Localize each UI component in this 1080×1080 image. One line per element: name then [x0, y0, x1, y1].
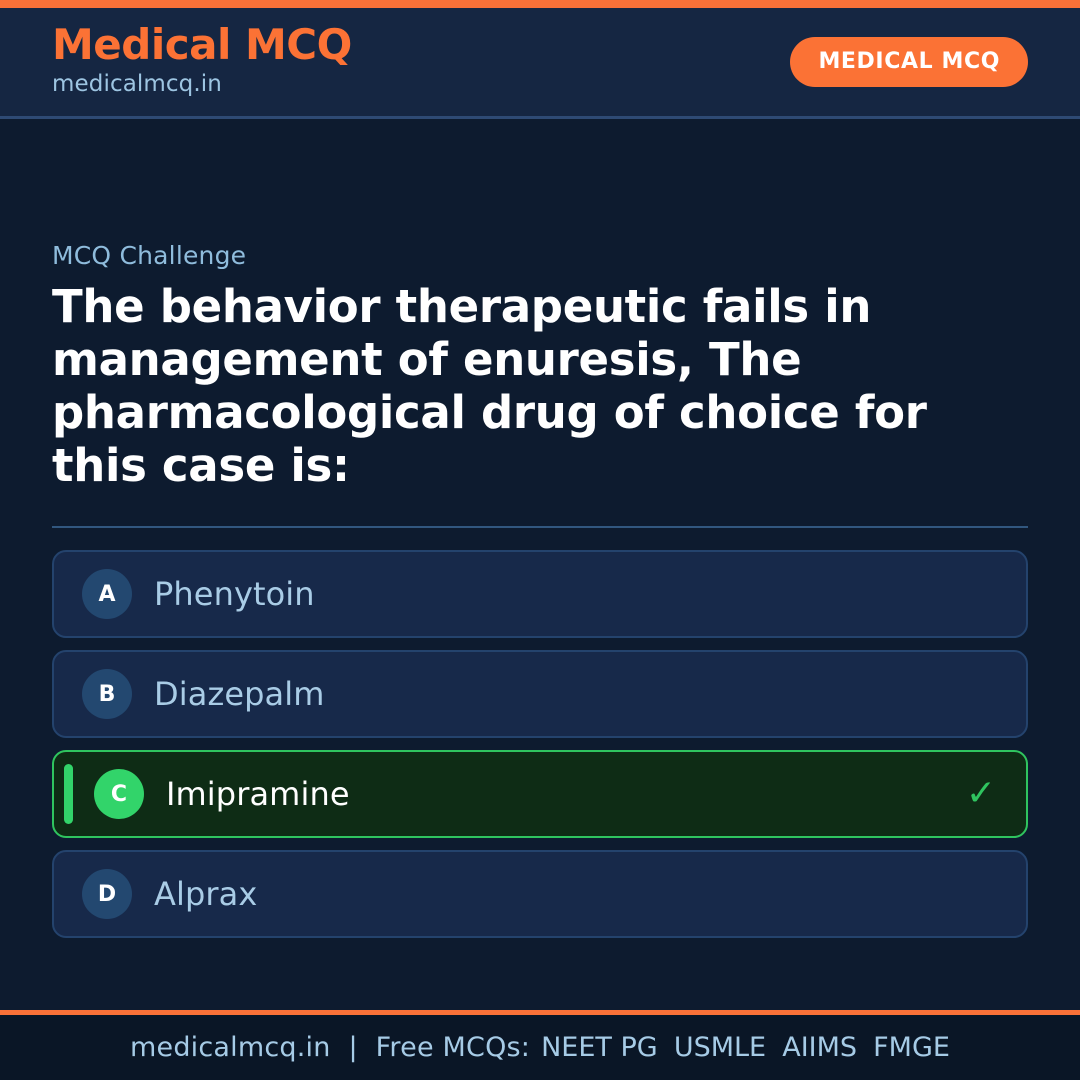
check-icon: ✓	[966, 776, 996, 812]
footer-exam-usmle[interactable]: USMLE	[663, 1032, 766, 1063]
options-list: A Phenytoin B Diazepalm C Imipramine ✓ D…	[52, 550, 1028, 938]
brand-title: Medical MCQ	[52, 23, 352, 67]
footer-exam-fmge[interactable]: FMGE	[862, 1032, 950, 1063]
eyebrow-label: MCQ Challenge	[52, 241, 1028, 270]
option-c-correct[interactable]: C Imipramine ✓	[52, 750, 1028, 838]
brand-block: Medical MCQ medicalmcq.in	[52, 23, 352, 99]
footer-exam-list: NEET PG USMLE AIIMS FMGE	[530, 1032, 950, 1063]
footer-exam-aiims[interactable]: AIIMS	[771, 1032, 857, 1063]
header-bar: Medical MCQ medicalmcq.in MEDICAL MCQ	[0, 8, 1080, 119]
option-c-letter-badge: C	[94, 769, 144, 819]
option-c-label: Imipramine	[166, 775, 350, 813]
option-b-label: Diazepalm	[154, 675, 325, 713]
header-badge: MEDICAL MCQ	[790, 37, 1028, 87]
option-a[interactable]: A Phenytoin	[52, 550, 1028, 638]
option-a-letter-badge: A	[82, 569, 132, 619]
main-content: MCQ Challenge The behavior therapeutic f…	[0, 119, 1080, 1010]
question-text: The behavior therapeutic fails in manage…	[52, 280, 1012, 492]
option-b[interactable]: B Diazepalm	[52, 650, 1028, 738]
footer-bar: medicalmcq.in | Free MCQs: NEET PG USMLE…	[0, 1015, 1080, 1080]
mcq-card: Medical MCQ medicalmcq.in MEDICAL MCQ MC…	[0, 0, 1080, 1080]
footer-site[interactable]: medicalmcq.in	[130, 1032, 331, 1063]
correct-accent-bar	[64, 764, 73, 824]
footer-separator: |	[331, 1032, 376, 1063]
brand-subtitle: medicalmcq.in	[52, 71, 352, 99]
option-d-letter-badge: D	[82, 869, 132, 919]
footer-exam-neet-pg[interactable]: NEET PG	[530, 1032, 658, 1063]
option-d[interactable]: D Alprax	[52, 850, 1028, 938]
option-a-label: Phenytoin	[154, 575, 315, 613]
top-accent-rule	[0, 0, 1080, 8]
option-d-label: Alprax	[154, 875, 257, 913]
footer-exams-label: Free MCQs:	[376, 1032, 530, 1063]
option-b-letter-badge: B	[82, 669, 132, 719]
question-divider	[52, 526, 1028, 528]
